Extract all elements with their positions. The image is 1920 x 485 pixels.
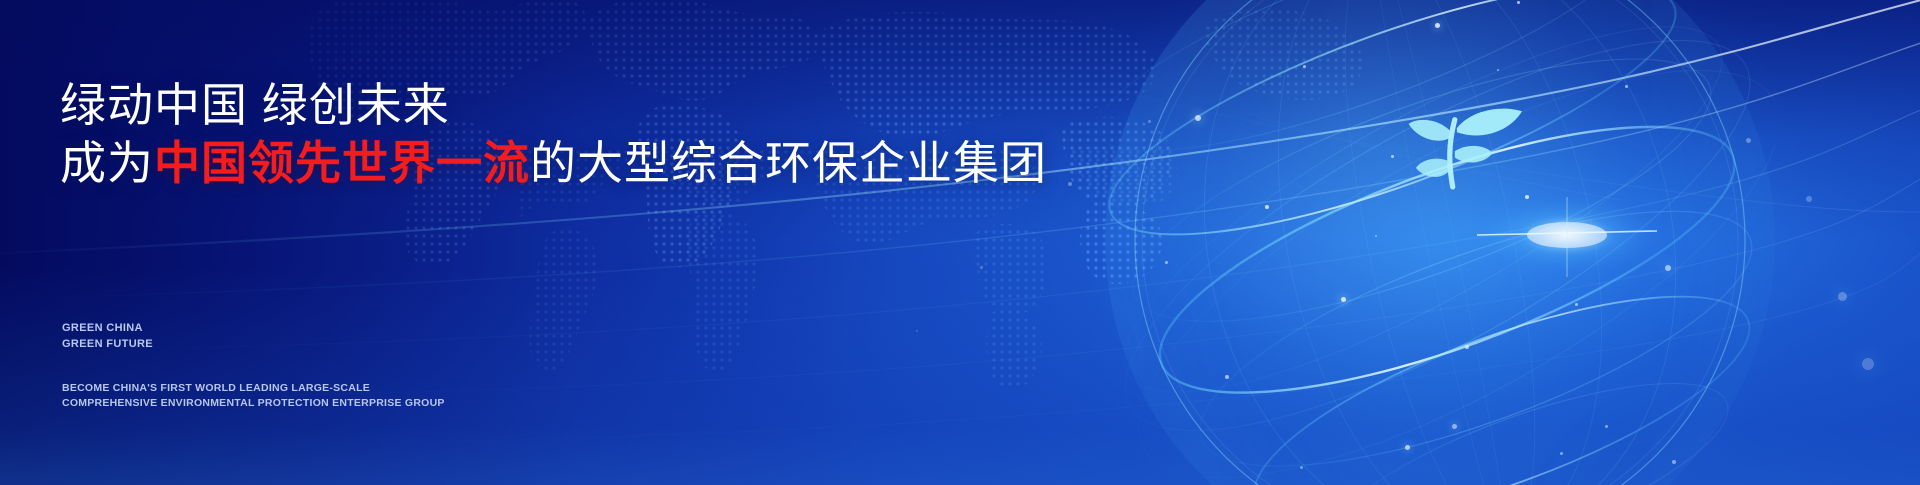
mission-english-block: BECOME CHINA'S FIRST WORLD LEADING LARGE… — [62, 381, 445, 411]
wireframe-globe — [1105, 0, 1775, 485]
globe-wireframe-svg — [1105, 0, 1775, 485]
headline-line-2-prefix: 成为 — [60, 137, 154, 189]
headline-block: 绿动中国 绿创未来 成为中国领先世界一流的大型综合环保企业集团 — [60, 78, 1047, 191]
mission-english-line-2: COMPREHENSIVE ENVIRONMENTAL PROTECTION E… — [62, 396, 445, 411]
headline-line-2-highlight: 中国领先世界一流 — [154, 137, 530, 189]
mission-english-line-1: BECOME CHINA'S FIRST WORLD LEADING LARGE… — [62, 381, 445, 396]
headline-line-1: 绿动中国 绿创未来 — [60, 78, 1047, 132]
slogan-english-block: GREEN CHINA GREEN FUTURE — [62, 321, 153, 352]
headline-line-2-suffix: 的大型综合环保企业集团 — [530, 137, 1047, 189]
headline-line-2: 成为中国领先世界一流的大型综合环保企业集团 — [60, 136, 1047, 190]
slogan-english-line-1: GREEN CHINA — [62, 321, 153, 337]
hero-banner: 绿动中国 绿创未来 成为中国领先世界一流的大型综合环保企业集团 GREEN CH… — [0, 0, 1920, 485]
slogan-english-line-2: GREEN FUTURE — [62, 337, 153, 353]
